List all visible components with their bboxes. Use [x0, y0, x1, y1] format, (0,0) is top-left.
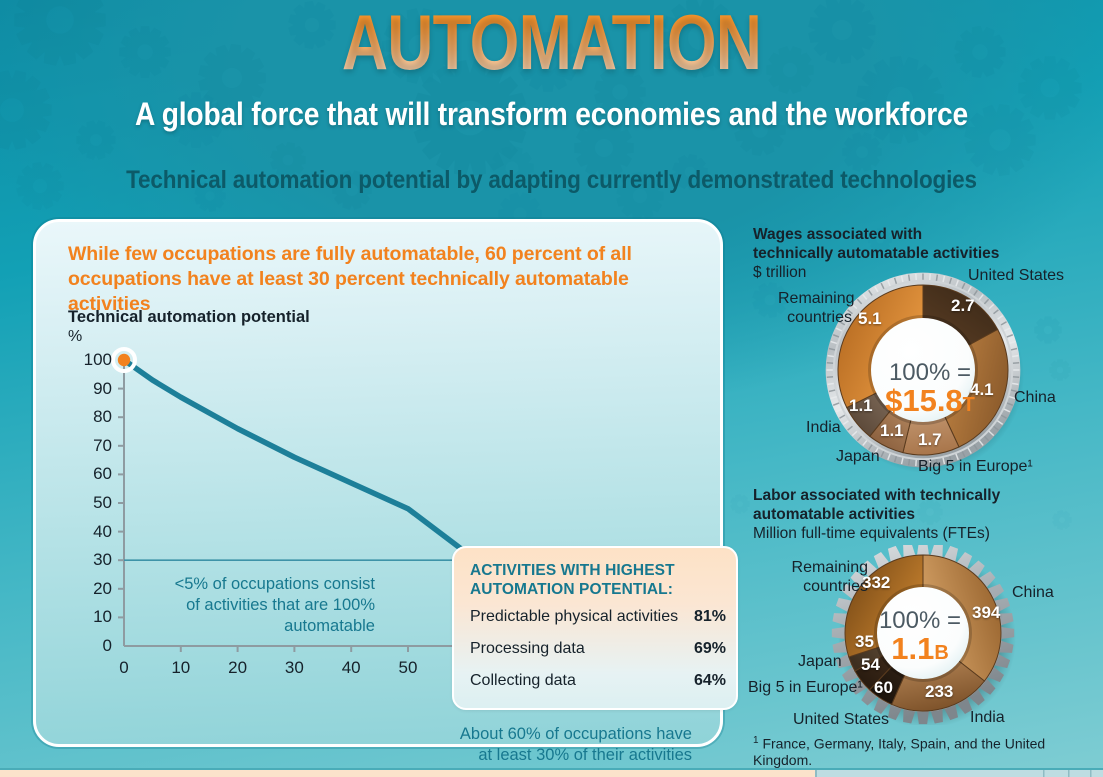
- activities-row-name: Predictable physical activities: [470, 608, 678, 626]
- labor-center-total: 100% =1.1B: [868, 608, 972, 666]
- y-tick-10: 10: [78, 607, 112, 627]
- wages-center-value: $15.8T: [885, 383, 975, 418]
- page-subtitle: A global force that will transform econo…: [66, 96, 1037, 133]
- wages-value-india: 1.1: [849, 396, 873, 416]
- labor-label-india: India: [970, 708, 1005, 727]
- labor-label-united-states: United States: [793, 710, 889, 729]
- annotation-low-automatable: <5% of occupations consist of activities…: [160, 574, 375, 637]
- activities-row-value: 64%: [694, 672, 726, 690]
- x-tick-20: 20: [218, 658, 258, 678]
- x-tick-10: 10: [161, 658, 201, 678]
- wages-chart-title: Wages associated with technically automa…: [753, 226, 1003, 263]
- wages-label-remaining-countries: Remaining countries: [778, 289, 852, 327]
- labor-label-remaining-countries: Remaining countries: [776, 558, 868, 596]
- activities-row-value: 81%: [694, 608, 726, 626]
- panel-headline: While few occupations are fully automata…: [68, 242, 698, 317]
- wages-center-total: 100% =$15.8T: [873, 360, 987, 418]
- wages-chart-unit: $ trillion: [753, 264, 806, 282]
- wages-label-united-states: United States: [968, 266, 1064, 285]
- wages-label-india: India: [806, 418, 841, 437]
- x-tick-50: 50: [388, 658, 428, 678]
- wages-value-japan: 1.1: [880, 421, 904, 441]
- wages-value-remaining-countries: 5.1: [858, 309, 882, 329]
- activities-row-name: Collecting data: [470, 672, 576, 690]
- labor-label-japan: Japan: [798, 652, 842, 671]
- wages-label-big5-europe: Big 5 in Europe¹: [918, 457, 1033, 476]
- labor-value-india: 233: [925, 682, 953, 702]
- y-tick-80: 80: [78, 407, 112, 427]
- labor-center-value: 1.1B: [891, 631, 949, 666]
- header: AUTOMATION A global force that will tran…: [0, 0, 1103, 212]
- activities-row-name: Processing data: [470, 640, 585, 658]
- labor-center-top: 100% =: [879, 607, 961, 634]
- y-tick-70: 70: [78, 436, 112, 456]
- activities-row-value: 69%: [694, 640, 726, 658]
- wages-label-japan: Japan: [836, 447, 880, 466]
- labor-value-remaining-countries: 332: [862, 573, 890, 593]
- wages-center-top: 100% =: [889, 359, 971, 386]
- page-title: AUTOMATION: [99, 4, 1003, 80]
- footnote-marker: 1: [753, 735, 759, 746]
- x-tick-0: 0: [104, 658, 144, 678]
- y-tick-30: 30: [78, 550, 112, 570]
- chart-panel: While few occupations are fully automata…: [33, 219, 723, 747]
- labor-value-united-states: 60: [874, 678, 893, 698]
- page-subtitle-secondary: Technical automation potential by adapti…: [55, 166, 1048, 195]
- labor-chart-title: Labor associated with technically automa…: [753, 487, 1003, 524]
- wages-label-china: China: [1014, 388, 1056, 407]
- x-tick-30: 30: [274, 658, 314, 678]
- y-tick-100: 100: [78, 350, 112, 370]
- y-tick-0: 0: [78, 636, 112, 656]
- y-tick-60: 60: [78, 464, 112, 484]
- footnote: 1 France, Germany, Italy, Spain, and the…: [753, 735, 1098, 768]
- activities-callout-title: ACTIVITIES WITH HIGHEST AUTOMATION POTEN…: [470, 561, 728, 599]
- y-tick-40: 40: [78, 522, 112, 542]
- labor-label-big5-europe: Big 5 in Europe¹: [748, 678, 863, 697]
- labor-value-china: 394: [972, 603, 1000, 623]
- x-tick-40: 40: [331, 658, 371, 678]
- chart-title: Technical automation potential: [68, 308, 310, 327]
- wages-value-big5-europe: 1.7: [918, 430, 942, 450]
- y-tick-90: 90: [78, 379, 112, 399]
- y-tick-20: 20: [78, 579, 112, 599]
- labor-label-china: China: [1012, 583, 1054, 602]
- activities-callout-box: ACTIVITIES WITH HIGHEST AUTOMATION POTEN…: [452, 546, 738, 710]
- wages-value-united-states: 2.7: [951, 296, 975, 316]
- labor-chart-unit: Million full-time equivalents (FTEs): [753, 525, 990, 543]
- y-tick-50: 50: [78, 493, 112, 513]
- chart-y-unit: %: [68, 328, 82, 346]
- bottom-cut-strip: [0, 768, 1103, 777]
